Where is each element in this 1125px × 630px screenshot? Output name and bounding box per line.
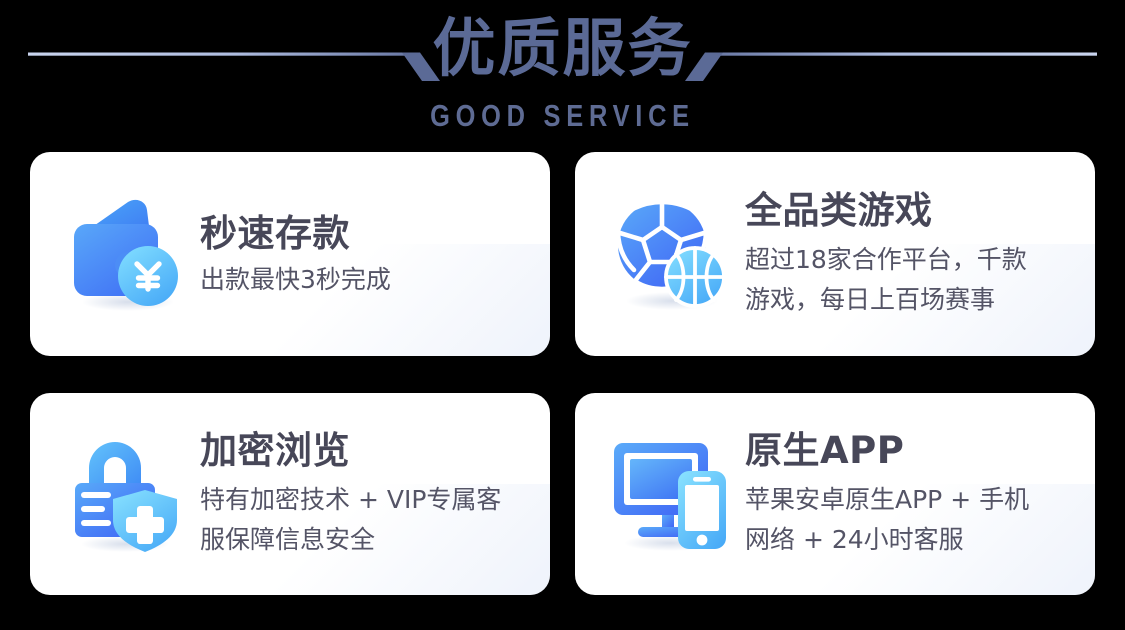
card-description-line: 服保障信息安全 — [200, 520, 501, 560]
feature-card-grid: 秒速存款 出款最快3秒完成 — [30, 152, 1095, 595]
soccer-basketball-icon — [607, 190, 735, 318]
card-description-line: 苹果安卓原生APP + 手机 — [745, 480, 1029, 520]
card-title: 全品类游戏 — [745, 189, 1027, 233]
card-text-block: 加密浏览 特有加密技术 + VIP专属客 服保障信息安全 — [200, 429, 519, 560]
monitor-phone-icon — [607, 430, 735, 558]
card-text-block: 全品类游戏 超过18家合作平台，千款 游戏，每日上百场赛事 — [745, 189, 1045, 320]
card-title: 原生APP — [745, 429, 1029, 473]
card-title: 秒速存款 — [200, 212, 391, 256]
card-description-line: 出款最快3秒完成 — [200, 263, 391, 297]
card-text-block: 秒速存款 出款最快3秒完成 — [200, 212, 409, 297]
feature-card-instant-deposit[interactable]: 秒速存款 出款最快3秒完成 — [30, 152, 550, 356]
page-subtitle: GOOD SERVICE — [101, 99, 1024, 133]
card-description-line: 网络 + 24小时客服 — [745, 520, 1029, 560]
card-description: 苹果安卓原生APP + 手机 网络 + 24小时客服 — [745, 480, 1029, 560]
card-description: 特有加密技术 + VIP专属客 服保障信息安全 — [200, 480, 501, 560]
card-description: 出款最快3秒完成 — [200, 263, 391, 297]
feature-card-native-app[interactable]: 原生APP 苹果安卓原生APP + 手机 网络 + 24小时客服 — [575, 393, 1095, 595]
banner-header: 优质服务 GOOD SERVICE — [0, 0, 1125, 145]
card-description-line: 超过18家合作平台，千款 — [745, 240, 1027, 280]
card-title: 加密浏览 — [200, 429, 501, 473]
feature-card-encrypted-browsing[interactable]: 加密浏览 特有加密技术 + VIP专属客 服保障信息安全 — [30, 393, 550, 595]
feature-card-all-games[interactable]: 全品类游戏 超过18家合作平台，千款 游戏，每日上百场赛事 — [575, 152, 1095, 356]
page-title: 优质服务 — [0, 14, 1125, 84]
card-description-line: 特有加密技术 + VIP专属客 — [200, 480, 501, 520]
wallet-yuan-icon — [62, 190, 190, 318]
card-description: 超过18家合作平台，千款 游戏，每日上百场赛事 — [745, 240, 1027, 320]
lock-shield-plus-icon — [62, 430, 190, 558]
card-text-block: 原生APP 苹果安卓原生APP + 手机 网络 + 24小时客服 — [745, 429, 1047, 560]
promo-banner: 优质服务 GOOD SERVICE — [0, 0, 1125, 630]
card-description-line: 游戏，每日上百场赛事 — [745, 280, 1027, 320]
